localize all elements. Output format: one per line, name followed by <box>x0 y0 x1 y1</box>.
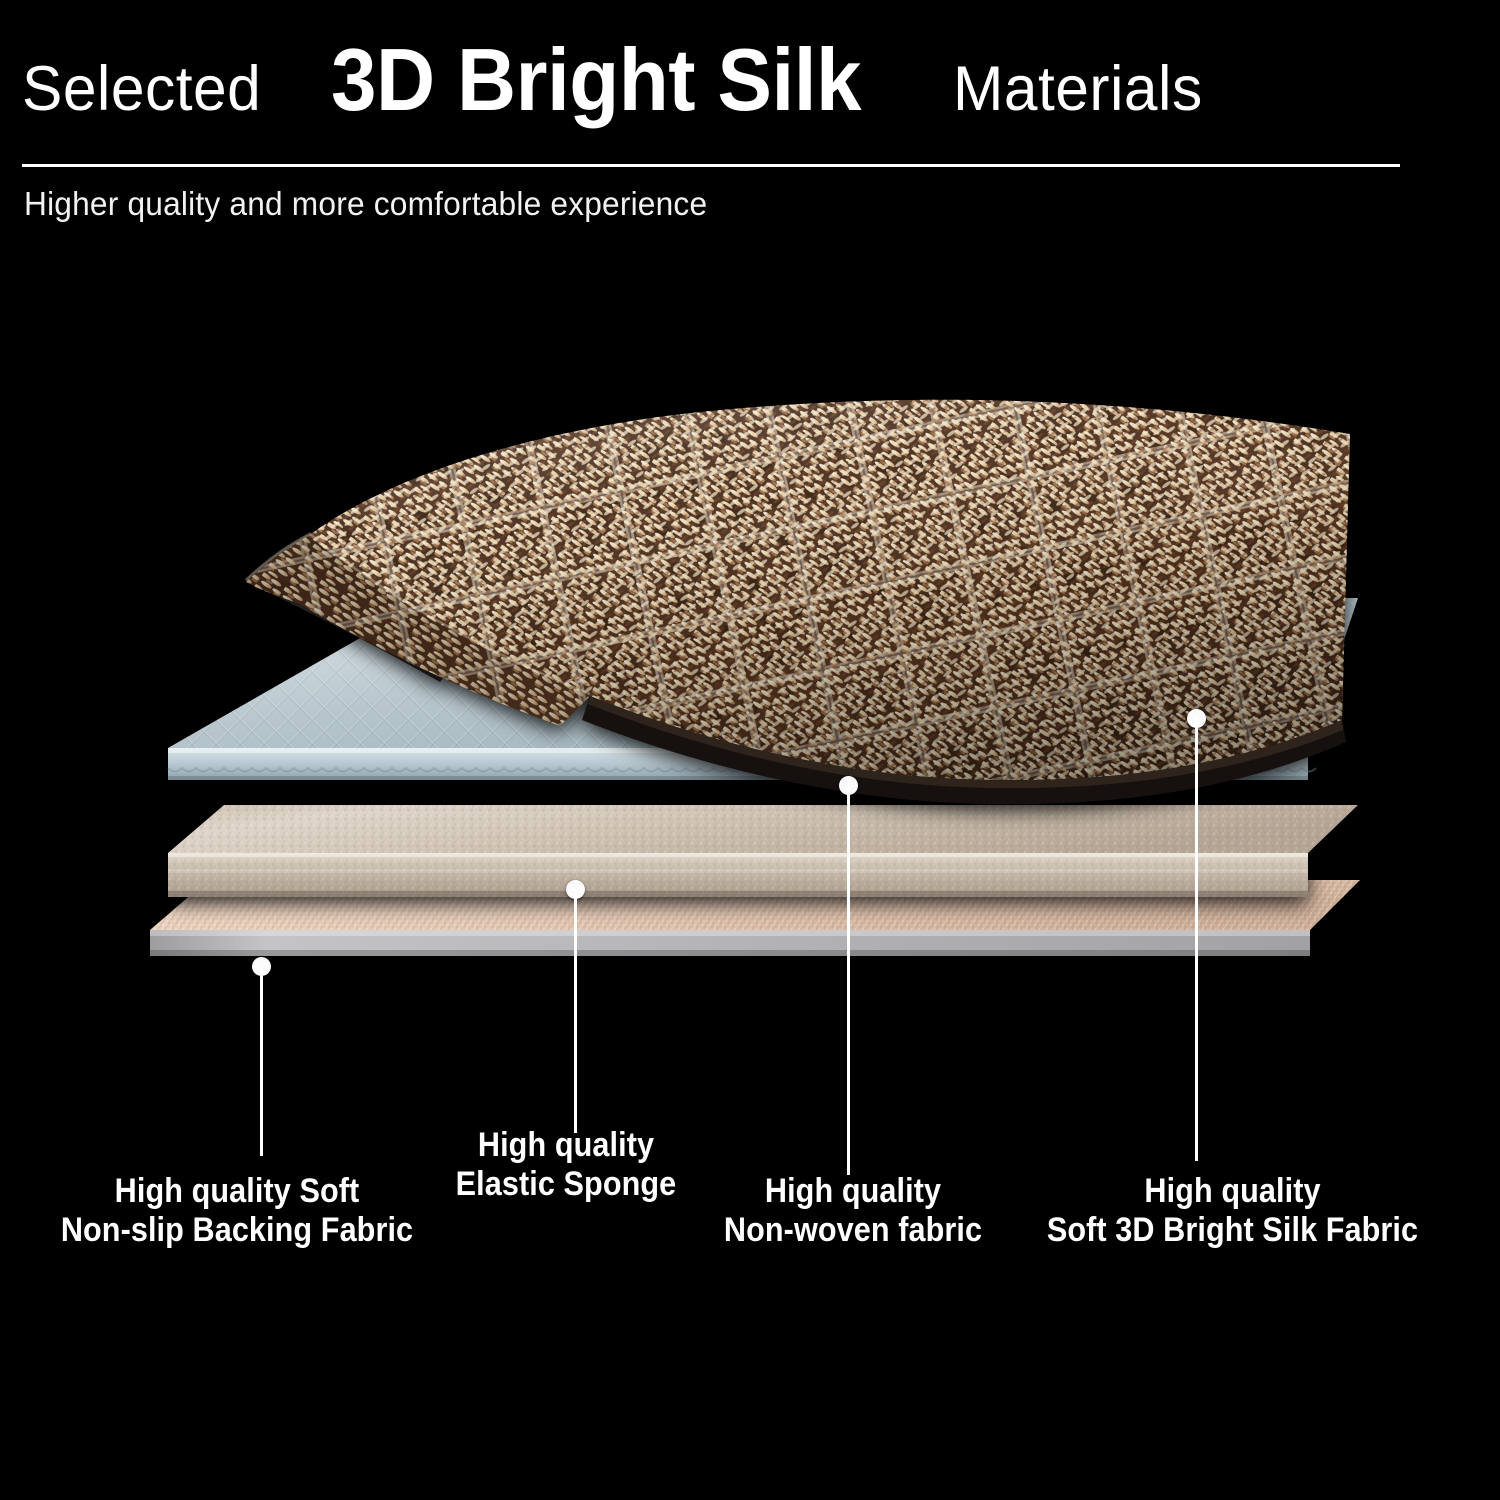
title-suffix-word: Materials <box>953 58 1203 121</box>
callout-line <box>847 785 850 1175</box>
layer-elastic-sponge <box>168 805 1358 915</box>
subtitle: Higher quality and more comfortable expe… <box>24 185 707 223</box>
callout-line <box>1195 718 1198 1161</box>
title-divider <box>22 164 1400 167</box>
layer-stack-diagram <box>0 380 1500 1000</box>
label-non-woven-fabric: High quality Non-woven fabric <box>718 1172 988 1251</box>
label-elastic-sponge: High quality Elastic Sponge <box>431 1126 701 1205</box>
label-soft-3d-bright-silk-fabric: High quality Soft 3D Bright Silk Fabric <box>1032 1172 1433 1251</box>
label-non-slip-backing-fabric: High quality Soft Non-slip Backing Fabri… <box>57 1172 417 1251</box>
title-prefix-word: Selected <box>22 58 261 121</box>
page-title: Selected 3D Bright Silk Materials <box>22 36 1422 148</box>
title-main-word: 3D Bright Silk <box>331 36 861 124</box>
callout-line <box>260 966 263 1156</box>
callout-line <box>574 889 577 1133</box>
callout-non-woven-fabric <box>838 776 858 1181</box>
callout-non-slip-backing-fabric <box>251 957 271 1162</box>
header: Selected 3D Bright Silk Materials Higher… <box>0 0 1500 240</box>
product-infographic: Selected 3D Bright Silk Materials Higher… <box>0 0 1500 1500</box>
callout-soft-3d-bright-silk-fabric <box>1186 709 1206 1169</box>
callout-elastic-sponge <box>565 880 585 1138</box>
